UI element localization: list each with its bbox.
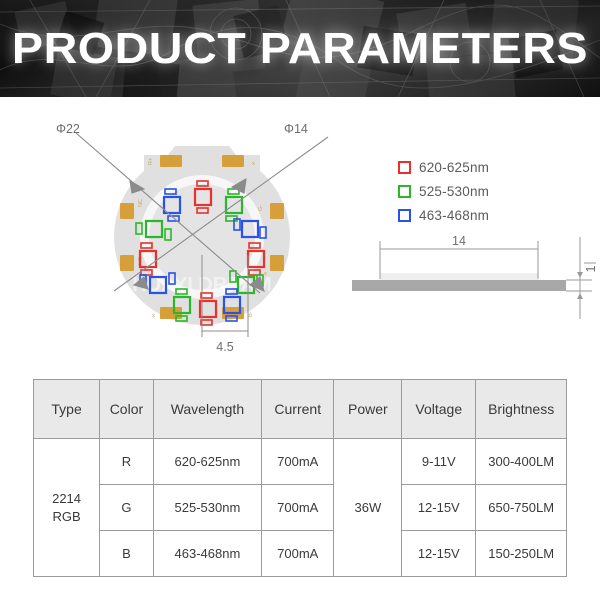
- cell-voltage-b: 12-15V: [402, 531, 476, 577]
- cell-wavelength-b: 463-468nm: [153, 531, 261, 577]
- legend-label-blue: 463-468nm: [419, 208, 489, 223]
- dimension-label-phi14: Φ14: [284, 122, 308, 136]
- cell-color-g: G: [100, 485, 154, 531]
- led-side-view: 14 1: [352, 227, 600, 332]
- svg-text:x: x: [252, 161, 255, 167]
- dimension-label-thickness: 1: [584, 265, 598, 272]
- cell-wavelength-r: 620-625nm: [153, 439, 261, 485]
- cell-type-value: 2214 RGB: [34, 439, 100, 577]
- legend-label-green: 525-530nm: [419, 184, 489, 199]
- side-view-substrate: [352, 280, 566, 291]
- legend-label-red: 620-625nm: [419, 160, 489, 175]
- cell-color-b: B: [100, 531, 154, 577]
- svg-text:x: x: [264, 271, 267, 277]
- legend-swatch-green-icon: [398, 185, 411, 198]
- column-header-brightness: Brightness: [476, 380, 567, 439]
- svg-text:x: x: [152, 313, 155, 319]
- cell-voltage-g: 12-15V: [402, 485, 476, 531]
- svg-text:NC: NC: [138, 199, 144, 207]
- legend-item-blue: 463-468nm: [398, 203, 489, 227]
- diagram-area: HUAYI DREAM R+ NC NC G- B- x x: [0, 97, 600, 369]
- wavelength-legend: 620-625nm 525-530nm 463-468nm: [398, 155, 489, 227]
- legend-item-green: 525-530nm: [398, 179, 489, 203]
- svg-text:B-: B-: [248, 311, 254, 317]
- cell-color-r: R: [100, 439, 154, 485]
- column-header-power: Power: [334, 380, 402, 439]
- side-view-emitter-layer: [380, 273, 538, 280]
- legend-item-red: 620-625nm: [398, 155, 489, 179]
- cell-current-b: 700mA: [262, 531, 334, 577]
- dimension-thickness-1: [566, 237, 596, 319]
- dimension-label-phi22: Φ22: [56, 122, 80, 136]
- cell-voltage-r: 9-11V: [402, 439, 476, 485]
- cell-brightness-g: 650-750LM: [476, 485, 567, 531]
- table-row: G 525-530nm 700mA 12-15V 650-750LM: [34, 485, 567, 531]
- column-header-voltage: Voltage: [402, 380, 476, 439]
- cell-brightness-b: 150-250LM: [476, 531, 567, 577]
- cell-brightness-r: 300-400LM: [476, 439, 567, 485]
- cell-power-value: 36W: [334, 439, 402, 577]
- table-row: 2214 RGB R 620-625nm 700mA 36W 9-11V 300…: [34, 439, 567, 485]
- led-pcb-top-view: HUAYI DREAM R+ NC NC G- B- x x: [52, 115, 352, 365]
- dimension-label-width: 14: [452, 234, 466, 248]
- page-title: PRODUCT PARAMETERS: [0, 0, 600, 97]
- svg-text:R+: R+: [148, 158, 154, 165]
- table-header-row: Type Color Wavelength Current Power Volt…: [34, 380, 567, 439]
- column-header-color: Color: [100, 380, 154, 439]
- page-banner: PRODUCT PARAMETERS: [0, 0, 600, 97]
- legend-swatch-blue-icon: [398, 209, 411, 222]
- cell-wavelength-g: 525-530nm: [153, 485, 261, 531]
- cell-current-g: 700mA: [262, 485, 334, 531]
- column-header-type: Type: [34, 380, 100, 439]
- svg-text:G-: G-: [258, 205, 264, 211]
- column-header-wavelength: Wavelength: [153, 380, 261, 439]
- table-row: B 463-468nm 700mA 12-15V 150-250LM: [34, 531, 567, 577]
- parameters-table: Type Color Wavelength Current Power Volt…: [33, 379, 567, 577]
- column-header-current: Current: [262, 380, 334, 439]
- dimension-label-4-5: 4.5: [216, 340, 233, 354]
- legend-swatch-red-icon: [398, 161, 411, 174]
- cell-current-r: 700mA: [262, 439, 334, 485]
